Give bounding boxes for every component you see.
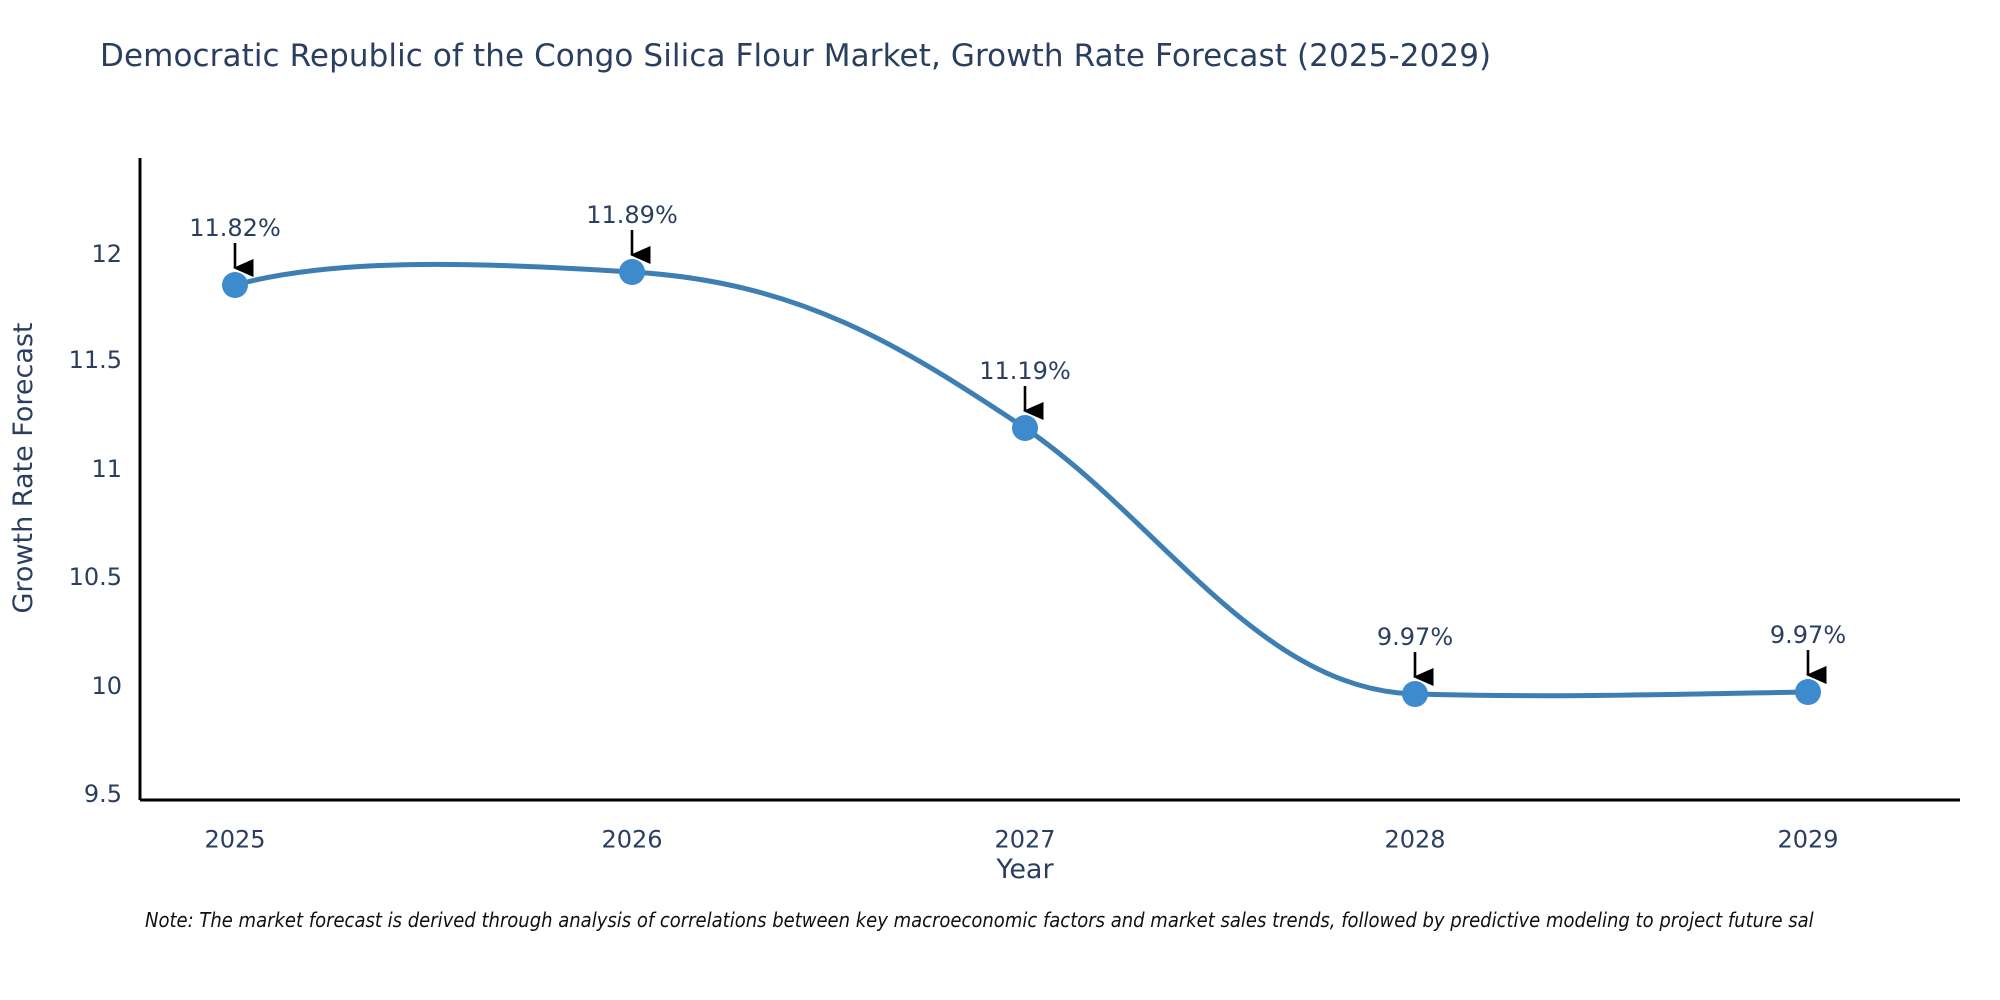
x-tick-label-2029: 2029 <box>1777 826 1838 854</box>
data-label-2026: 11.89% <box>586 201 678 229</box>
data-point-2025[interactable] <box>222 272 248 298</box>
y-tick-label-11: 11 <box>91 455 122 483</box>
x-tick-label-2026: 2026 <box>601 826 662 854</box>
y-tick-label-10-5: 10.5 <box>69 563 122 591</box>
y-tick-label-12: 12 <box>91 240 122 268</box>
data-label-2029: 9.97% <box>1770 621 1846 649</box>
data-label-2028: 9.97% <box>1377 623 1453 651</box>
x-tick-label-2025: 2025 <box>204 826 265 854</box>
data-series-line <box>235 264 1808 695</box>
x-tick-label-2028: 2028 <box>1384 826 1445 854</box>
x-axis-title: Year <box>995 854 1054 885</box>
data-label-2027: 11.19% <box>979 357 1071 385</box>
data-point-2027[interactable] <box>1012 415 1038 441</box>
chart-note: Note: The market forecast is derived thr… <box>145 908 1814 932</box>
y-tick-label-10: 10 <box>91 672 122 700</box>
chart-plot-area: 12 11.5 11 10.5 10 9.5 2025 2026 2027 20… <box>0 0 2000 1000</box>
data-point-2026[interactable] <box>619 259 645 285</box>
y-tick-label-9-5: 9.5 <box>84 780 122 808</box>
data-label-2025: 11.82% <box>189 214 281 242</box>
y-tick-label-11-5: 11.5 <box>69 346 122 374</box>
data-point-2029[interactable] <box>1795 679 1821 705</box>
y-axis-title: Growth Rate Forecast <box>8 322 39 613</box>
data-point-2028[interactable] <box>1402 681 1428 707</box>
chart-figure: Democratic Republic of the Congo Silica … <box>0 0 2000 1000</box>
x-tick-label-2027: 2027 <box>994 826 1055 854</box>
